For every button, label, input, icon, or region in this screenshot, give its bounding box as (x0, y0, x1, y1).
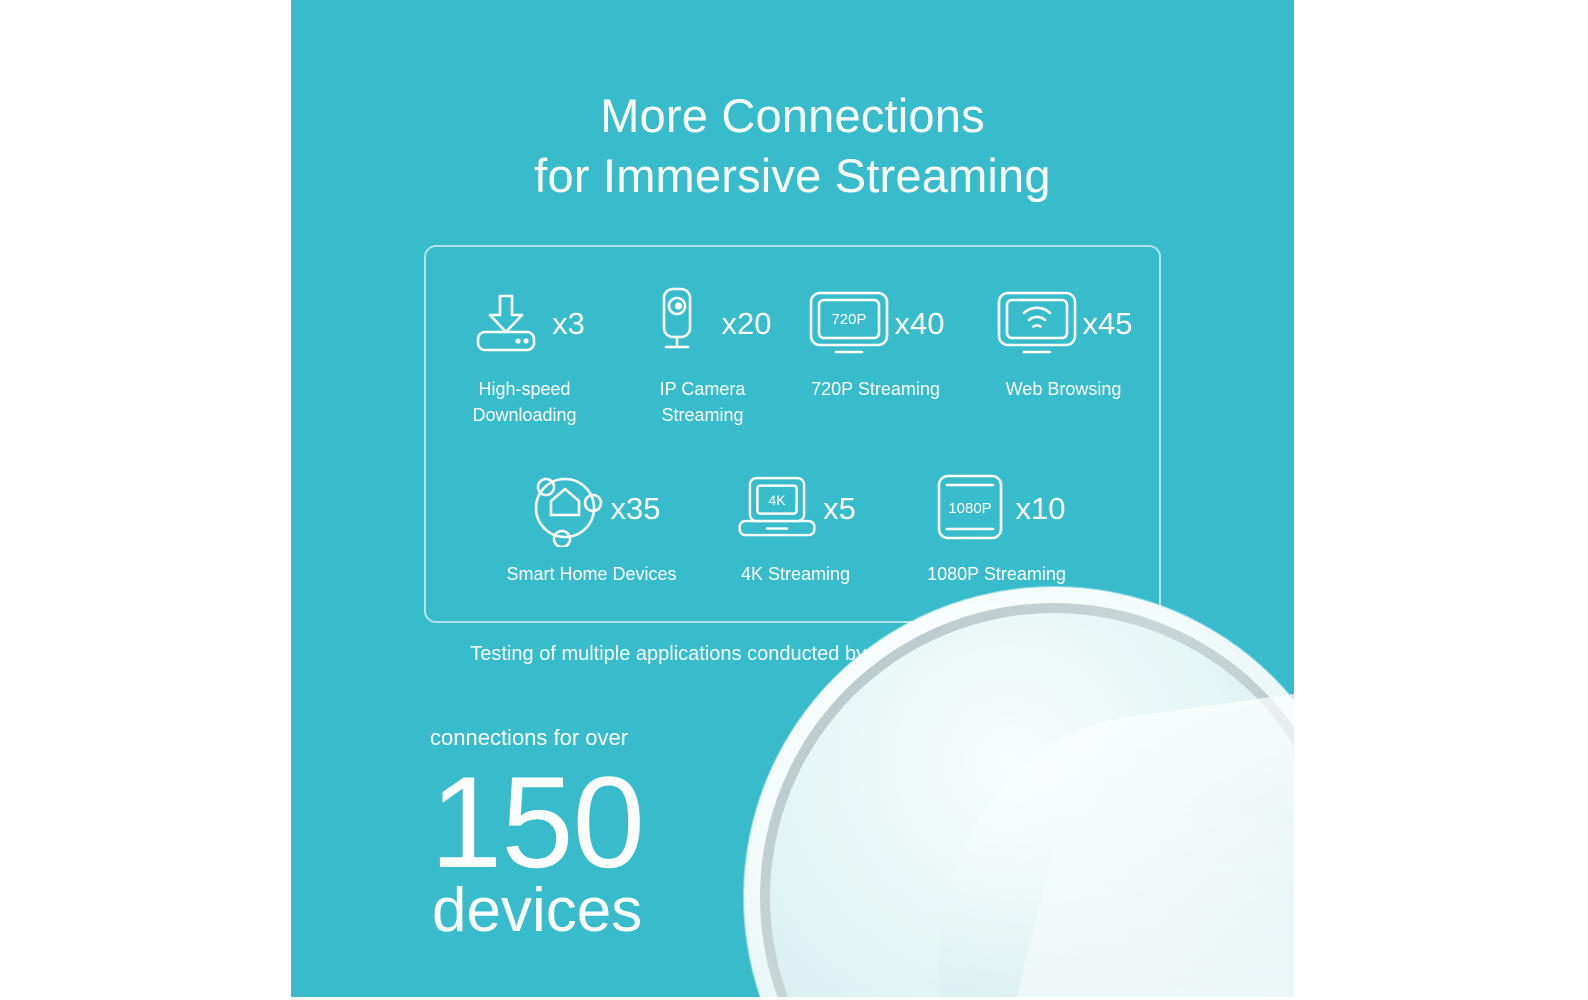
spec-item-ip-camera-streaming: x20 IP Camera Streaming (623, 280, 783, 428)
spec-caption: IP Camera Streaming (660, 376, 746, 428)
spec-item-web-browsing: x45 Web Browsing (969, 280, 1159, 402)
spec-icon-and-count: x45 (995, 280, 1133, 366)
ip-camera-icon (634, 284, 718, 362)
router-highlight-b (977, 771, 1294, 997)
tablet-1080p-icon: 1080P (928, 469, 1012, 547)
monitor-wifi-icon (995, 284, 1079, 362)
spec-multiplier: x35 (611, 493, 661, 524)
stat-unit: devices (432, 879, 644, 943)
tablet-1080p-label: 1080P (948, 500, 991, 517)
spec-icon-and-count: x35 (523, 465, 661, 551)
spec-caption: High-speed Downloading (472, 376, 576, 428)
spec-caption: 4K Streaming (741, 561, 850, 587)
spec-item-smart-home-devices: x35 Smart Home Devices (483, 465, 701, 587)
smart-home-network-icon (523, 469, 607, 547)
laptop-4k-label: 4K (769, 492, 787, 508)
spec-item-high-speed-downloading: x3 High-speed Downloading (427, 280, 623, 428)
spec-multiplier: x20 (722, 308, 772, 339)
spec-caption: Web Browsing (1006, 376, 1122, 402)
spec-multiplier: x40 (895, 308, 945, 339)
spec-icon-and-count: 720P x40 (807, 280, 945, 366)
laptop-4k-icon: 4K (735, 469, 819, 547)
page-title: More Connections for Immersive Streaming (291, 86, 1294, 206)
footnote: Testing of multiple applications conduct… (291, 640, 1294, 668)
spec-multiplier: x45 (1083, 308, 1133, 339)
stat-number: 150 (430, 759, 644, 885)
spec-item-4k-streaming: 4K x5 4K Streaming (701, 465, 891, 587)
spec-icon-and-count: 4K x5 (735, 465, 856, 551)
spec-item-1080p-streaming: 1080P x10 1080P Streaming (891, 465, 1103, 587)
spec-icon-and-count: x3 (464, 280, 585, 366)
spec-multiplier: x5 (823, 493, 856, 524)
download-device-icon (464, 284, 548, 362)
router-top-surface (770, 613, 1294, 997)
teal-panel: More Connections for Immersive Streaming (291, 0, 1294, 997)
monitor-720p-label: 720P (831, 311, 866, 328)
specs-row-1: x3 High-speed Downloading (426, 280, 1159, 428)
router-highlight-a (906, 687, 1294, 997)
spec-icon-and-count: x20 (634, 280, 772, 366)
page-title-line2: for Immersive Streaming (291, 146, 1294, 206)
spec-multiplier: x10 (1016, 493, 1066, 524)
specs-row-2: x35 Smart Home Devices 4K (426, 465, 1159, 587)
spec-caption: 1080P Streaming (927, 561, 1066, 587)
spec-caption: 720P Streaming (811, 376, 940, 402)
spec-caption: Smart Home Devices (506, 561, 676, 587)
spec-multiplier: x3 (552, 308, 585, 339)
page-title-line1: More Connections (600, 89, 985, 142)
device-capacity-stat: connections for over 150 devices (430, 723, 644, 943)
promo-graphic: More Connections for Immersive Streaming (0, 0, 1588, 1000)
monitor-720p-icon: 720P (807, 284, 891, 362)
spec-item-720p-streaming: 720P x40 720P Streaming (783, 280, 969, 402)
spec-icon-and-count: 1080P x10 (928, 465, 1066, 551)
specs-panel: x3 High-speed Downloading (424, 245, 1161, 623)
